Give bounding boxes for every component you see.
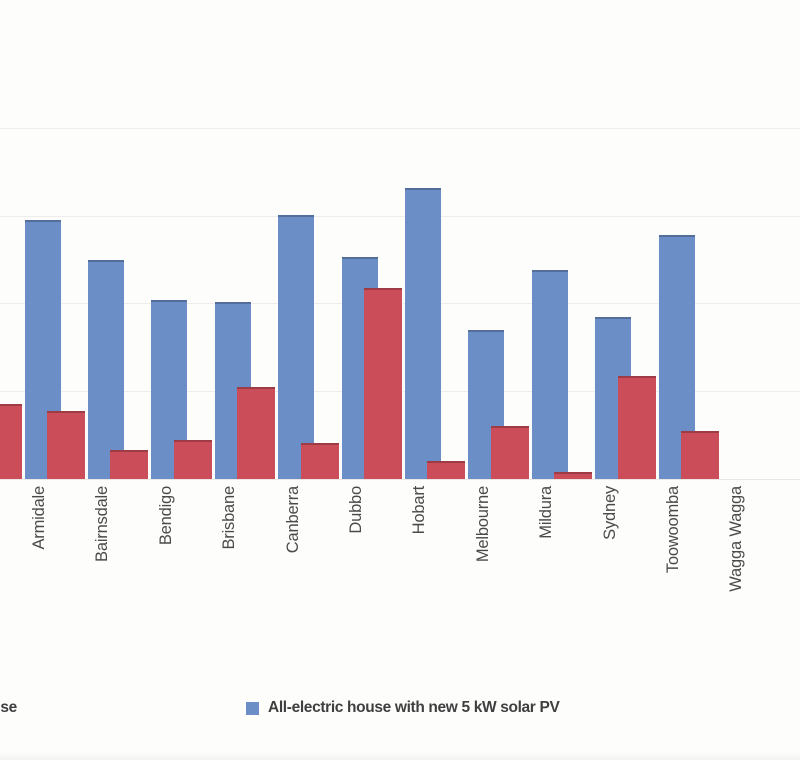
bar-all-electric-house[interactable]	[491, 426, 529, 479]
x-axis-label-text: Brisbane	[220, 486, 239, 550]
bar-group	[681, 40, 758, 479]
bar-all-electric-house[interactable]	[0, 404, 22, 479]
x-axis-label-hobart: Hobart	[410, 486, 429, 534]
bar-all-electric-house[interactable]	[47, 411, 85, 479]
bar-all-electric-house[interactable]	[427, 461, 465, 479]
x-axis-label-text: Bendigo	[157, 486, 176, 545]
plot-area	[0, 40, 800, 479]
chart-legend: All-electric house All-electric house wi…	[0, 697, 800, 725]
blue-square-swatch-icon	[246, 702, 259, 715]
legend-item-label: All-electric house with new 5 kW solar P…	[268, 699, 559, 717]
x-axis-label-text: Sydney	[601, 486, 620, 540]
x-axis-label-text: Toowoomba	[664, 486, 683, 573]
bar-all-electric-house[interactable]	[237, 387, 275, 479]
x-axis-label-mildura: Mildura	[537, 486, 556, 539]
bar-all-electric-house[interactable]	[174, 440, 212, 479]
bar-all-electric-house[interactable]	[681, 431, 719, 479]
bar-all-electric-house[interactable]	[110, 450, 148, 479]
legend-item-label: All-electric house	[0, 699, 17, 717]
x-axis-label-bairnsdale: Bairnsdale	[93, 486, 112, 562]
legend-item-all-electric-house-with-solar-pv[interactable]: All-electric house with new 5 kW solar P…	[246, 697, 559, 719]
x-axis-label-bendigo: Bendigo	[157, 486, 176, 545]
x-axis-label-text: Armidale	[30, 486, 49, 550]
x-axis-label-text: Wagga Wagga	[727, 486, 746, 592]
x-axis-label-sydney: Sydney	[601, 486, 620, 540]
x-axis-label-melbourne: Melbourne	[474, 486, 493, 562]
x-axis-label-wagga-wagga: Wagga Wagga	[727, 486, 746, 592]
x-axis-label-text: Melbourne	[474, 486, 493, 562]
x-axis-label-text: Canberra	[284, 486, 303, 553]
bar-all-electric-house[interactable]	[364, 288, 402, 479]
axis-baseline	[0, 479, 800, 480]
x-axis-label-text: Mildura	[537, 486, 556, 539]
scan-edge-artifact	[0, 752, 800, 760]
bar-all-electric-house[interactable]	[301, 443, 339, 479]
x-axis-label-dubbo: Dubbo	[347, 486, 366, 534]
bar-all-electric-house[interactable]	[554, 472, 592, 479]
x-axis-label-text: Bairnsdale	[93, 486, 112, 562]
x-axis-label-toowoomba: Toowoomba	[664, 486, 683, 573]
legend-item-all-electric-house[interactable]: All-electric house	[0, 697, 17, 719]
x-axis-label-brisbane: Brisbane	[220, 486, 239, 550]
x-axis-label-text: Dubbo	[347, 486, 366, 534]
bar-chart-figure: ArmidaleBairnsdaleBendigoBrisbaneCanberr…	[0, 0, 800, 760]
x-axis-label-text: Hobart	[410, 486, 429, 534]
x-axis-label-canberra: Canberra	[284, 486, 303, 553]
x-axis-labels: ArmidaleBairnsdaleBendigoBrisbaneCanberr…	[0, 486, 800, 646]
x-axis-label-armidale: Armidale	[30, 486, 49, 550]
bar-all-electric-house[interactable]	[618, 376, 656, 479]
